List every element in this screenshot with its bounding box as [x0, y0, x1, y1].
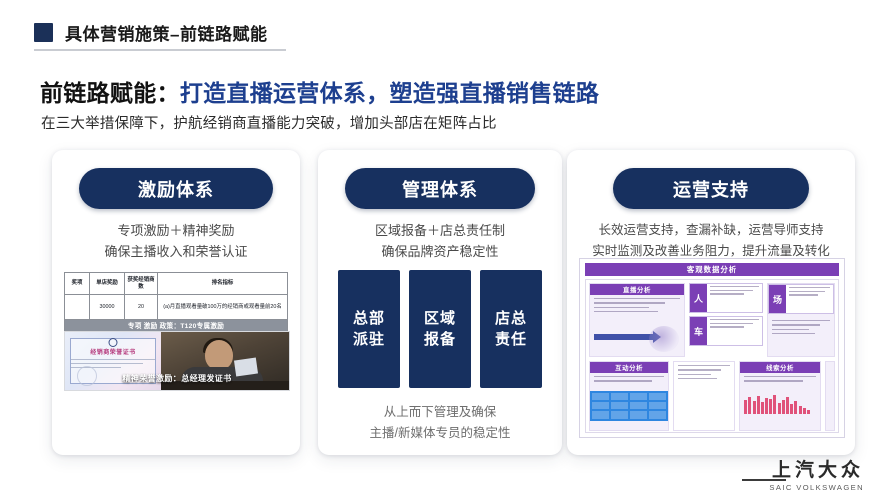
th-dealer-count: 获奖经销商数 [125, 273, 158, 295]
panel-interaction-label: 互动分析 [590, 362, 668, 373]
card-incentive-desc-line-1: 专项激励＋精神奖励 [52, 220, 300, 241]
panel-live-analysis: 直播分析 [589, 283, 685, 357]
td-award [65, 295, 90, 320]
interaction-heatmap [590, 391, 668, 421]
panel-live-analysis-label: 直播分析 [590, 284, 684, 295]
pillar-store-line-1: 店总 [495, 308, 527, 329]
card-incentive-description: 专项激励＋精神奖励 确保主播收入和荣誉认证 [52, 220, 300, 262]
page-title-prefix: 前链路赋能： [40, 80, 180, 106]
dashboard-row-top: 直播分析 人 车 [589, 283, 835, 357]
brand-name-en: SAIC VOLKSWAGEN [769, 483, 864, 492]
badge-people-lines [707, 284, 762, 312]
pillar-region-line-2: 报备 [424, 329, 456, 350]
th-store-reward: 单店奖励 [90, 273, 125, 295]
th-award: 奖项 [65, 273, 90, 295]
panel-lead-summary [825, 361, 835, 431]
panel-venue-bullets [768, 317, 834, 340]
brand-logo: 上汽大众 SAIC VOLKSWAGEN [769, 460, 864, 492]
lead-bar-chart [740, 392, 820, 414]
cards-row: 激励体系 专项激励＋精神奖励 确保主播收入和荣誉认证 奖项 单店奖励 获奖经销商… [0, 150, 888, 458]
panel-interaction-analysis: 互动分析 [589, 361, 669, 431]
dashboard-row-bottom: 互动分析 线索分析 [589, 361, 835, 431]
pillar-store-responsibility[interactable]: 店总 责任 [480, 270, 542, 388]
dashboard-title: 客观数据分析 [585, 263, 839, 276]
td-store-reward: 30000 [90, 295, 125, 320]
panel-interaction-notes [673, 361, 735, 431]
badge-venue: 场 [768, 284, 834, 314]
management-pillars: 总部 派驻 区域 报备 店总 责任 [338, 270, 542, 388]
panel-venue-label: 场 [769, 285, 786, 313]
pillar-hq-line-2: 派驻 [353, 329, 385, 350]
page-subtitle: 在三大举措保障下，护航经销商直播能力突破，增加头部店在矩阵占比 [41, 112, 497, 133]
card-incentive-title: 激励体系 [79, 168, 273, 209]
analytics-dashboard-image[interactable]: 客观数据分析 直播分析 人 [579, 258, 845, 438]
card-management-description: 区域报备＋店总责任制 确保品牌资产稳定性 [318, 220, 562, 262]
interaction-note-lines [674, 362, 734, 385]
panel-people-vehicle-group: 人 车 [689, 283, 763, 357]
panel-venue: 场 [767, 283, 835, 357]
eyebrow-divider [34, 49, 286, 51]
badge-venue-lines [786, 285, 833, 313]
card-operations-desc-line-1: 长效运营支持，查漏补缺，运营导师支持 [567, 220, 855, 241]
card-management-title: 管理体系 [345, 168, 535, 209]
card-incentive-desc-line-2: 确保主播收入和荣誉认证 [52, 241, 300, 262]
page-title-emphasis: 打造直播运营体系，塑造强直播销售链路 [180, 80, 599, 106]
card-management-desc-line-1: 区域报备＋店总责任制 [318, 220, 562, 241]
incentive-table-head: 奖项 单店奖励 获奖经销商数 排名指标 [65, 273, 288, 295]
table-header-row: 奖项 单店奖励 获奖经销商数 排名指标 [65, 273, 288, 295]
incentive-photo-strip: 经销商荣誉证书 精神荣誉激励：总经理发证书 [64, 331, 290, 391]
badge-vehicle-lines [707, 317, 762, 345]
scatter-cluster-icon [649, 326, 679, 352]
dashboard-body: 直播分析 人 车 [585, 279, 839, 433]
panel-lead-bullets [740, 373, 820, 388]
pillar-hq-dispatch[interactable]: 总部 派驻 [338, 270, 400, 388]
management-footnote-line-1: 从上而下管理及确保 [318, 402, 562, 423]
pillar-hq-line-1: 总部 [353, 308, 385, 329]
card-operations[interactable]: 运营支持 长效运营支持，查漏补缺，运营导师支持 实时监测及改善业务阻力，提升流量… [567, 150, 855, 455]
card-operations-title: 运营支持 [613, 168, 809, 209]
card-management[interactable]: 管理体系 区域报备＋店总责任制 确保品牌资产稳定性 总部 派驻 区域 报备 [318, 150, 562, 455]
card-management-desc-line-2: 确保品牌资产稳定性 [318, 241, 562, 262]
td-dealer-count: 20 [125, 295, 158, 320]
page-title: 前链路赋能：打造直播运营体系，塑造强直播销售链路 [40, 74, 599, 108]
pillar-region-filing[interactable]: 区域 报备 [409, 270, 471, 388]
pillar-region-line-1: 区域 [424, 308, 456, 329]
panel-lead-summary-lines [826, 362, 834, 385]
pillar-store-line-2: 责任 [495, 329, 527, 350]
certificate-title: 经销商荣誉证书 [90, 347, 136, 356]
card-incentive[interactable]: 激励体系 专项激励＋精神奖励 确保主播收入和荣誉认证 奖项 单店奖励 获奖经销商… [52, 150, 300, 455]
panel-vehicle-label: 车 [690, 317, 707, 345]
panel-lead-label: 线索分析 [740, 362, 820, 373]
management-footnote-line-2: 主播/新媒体专员的稳定性 [318, 423, 562, 444]
panel-people-label: 人 [690, 284, 707, 312]
certificate-seal-icon [109, 338, 118, 347]
table-row: 30000 20 (a)月直播观看量破100万的经销商或观看量前20名 [65, 295, 288, 320]
panel-interaction-bullets [590, 373, 668, 388]
slide-eyebrow-header: 具体营销施策–前链路赋能 [34, 20, 267, 45]
slide-root: 具体营销施策–前链路赋能 前链路赋能：打造直播运营体系，塑造强直播销售链路 在三… [0, 0, 888, 500]
eyebrow-title: 具体营销施策–前链路赋能 [65, 20, 267, 45]
card-operations-description: 长效运营支持，查漏补缺，运营导师支持 实时监测及改善业务阻力，提升流量及转化 [567, 220, 855, 262]
td-rank-metric: (a)月直播观看量破100万的经销商或观看量前20名 [158, 295, 288, 320]
badge-people: 人 [689, 283, 763, 313]
person-head [205, 340, 233, 370]
th-rank-metric: 排名指标 [158, 273, 288, 295]
photo-strip-caption: 精神荣誉激励：总经理发证书 [65, 373, 289, 384]
panel-live-bullets [590, 295, 684, 318]
badge-vehicle: 车 [689, 316, 763, 346]
brand-name-cn: 上汽大众 [769, 460, 864, 481]
flow-arrow-icon [594, 334, 654, 340]
navy-square-icon [34, 23, 53, 42]
panel-lead-analysis: 线索分析 [739, 361, 821, 431]
management-footnote: 从上而下管理及确保 主播/新媒体专员的稳定性 [318, 402, 562, 444]
